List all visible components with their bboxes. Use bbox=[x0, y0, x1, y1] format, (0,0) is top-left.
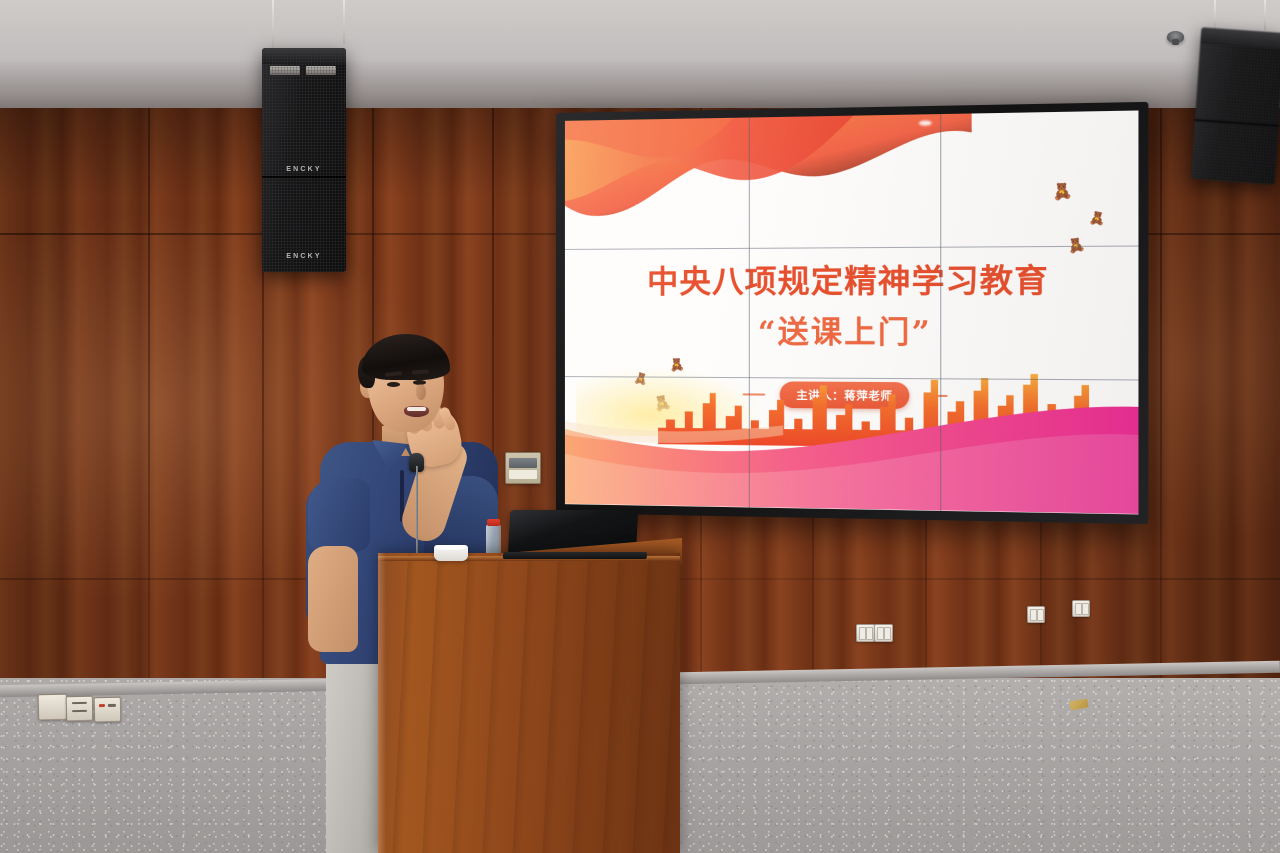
presenter-mouth bbox=[404, 406, 429, 417]
presenter-left-sleeve bbox=[308, 478, 370, 552]
laptop-base bbox=[503, 552, 648, 559]
speaker-brand-label: ENCKY bbox=[262, 166, 346, 173]
microphone-stand bbox=[416, 466, 418, 558]
light-switch-left-2[interactable] bbox=[874, 624, 893, 642]
bird-icon: 🧸 bbox=[1088, 211, 1106, 225]
ceiling-speaker-right bbox=[1191, 27, 1280, 184]
light-switch-mid[interactable] bbox=[1027, 606, 1045, 623]
light-switch-right[interactable] bbox=[1072, 600, 1090, 617]
slide-subtitle: “送课上门” bbox=[565, 306, 1139, 352]
slide-title: 中央八项规定精神学习教育 bbox=[565, 254, 1139, 302]
led-video-wall[interactable]: 🧸 🧸 🧸 🧸 🧸 🧸 中央八项规定精神学习教育 “送课上门” 主讲人：蒋萍老师 bbox=[556, 102, 1148, 524]
screen-reflection bbox=[919, 120, 932, 125]
ribbon-decoration-top bbox=[565, 110, 972, 236]
presenter-eye bbox=[387, 382, 400, 387]
panel-seam-vertical bbox=[749, 117, 750, 507]
speaker-grille bbox=[262, 48, 346, 272]
wave-decoration-bottom bbox=[565, 359, 1139, 515]
speaker-grille bbox=[1191, 27, 1280, 184]
presenter-left-forearm bbox=[308, 546, 358, 652]
panel-seam-horizontal bbox=[565, 245, 1139, 249]
paper-cup bbox=[434, 545, 468, 561]
speaker-hanging-wire bbox=[1264, 0, 1266, 30]
bird-icon: 🧸 bbox=[1051, 183, 1073, 201]
presenter-hair bbox=[362, 334, 450, 380]
wall-seam bbox=[148, 108, 150, 748]
sprinkler-head-icon bbox=[1167, 31, 1184, 43]
ceiling-speaker-left: ENCKY ENCKY bbox=[262, 48, 346, 272]
podium-wood-grain bbox=[378, 553, 680, 853]
conference-room-scene: ENCKY ENCKY bbox=[0, 0, 1280, 853]
speaker-hanging-wire bbox=[272, 0, 274, 52]
light-switch-left[interactable] bbox=[856, 624, 875, 642]
speaker-brand-label: ENCKY bbox=[262, 253, 346, 260]
video-wall-screen[interactable]: 🧸 🧸 🧸 🧸 🧸 🧸 中央八项规定精神学习教育 “送课上门” 主讲人：蒋萍老师 bbox=[565, 110, 1139, 514]
power-outlet-a[interactable] bbox=[66, 696, 93, 721]
water-bottle-cap bbox=[487, 519, 500, 526]
speaker-divider bbox=[262, 176, 346, 178]
panel-seam-vertical bbox=[940, 114, 941, 511]
presentation-slide: 🧸 🧸 🧸 🧸 🧸 🧸 中央八项规定精神学习教育 “送课上门” 主讲人：蒋萍老师 bbox=[565, 110, 1139, 514]
podium bbox=[378, 553, 680, 853]
podium-edge-highlight bbox=[378, 553, 386, 853]
blank-wall-plate bbox=[38, 694, 67, 721]
power-outlet-b[interactable] bbox=[94, 697, 121, 722]
wall-seam bbox=[1160, 108, 1162, 748]
speaker-hanging-wire bbox=[343, 0, 345, 44]
presenter-nose bbox=[416, 384, 426, 400]
